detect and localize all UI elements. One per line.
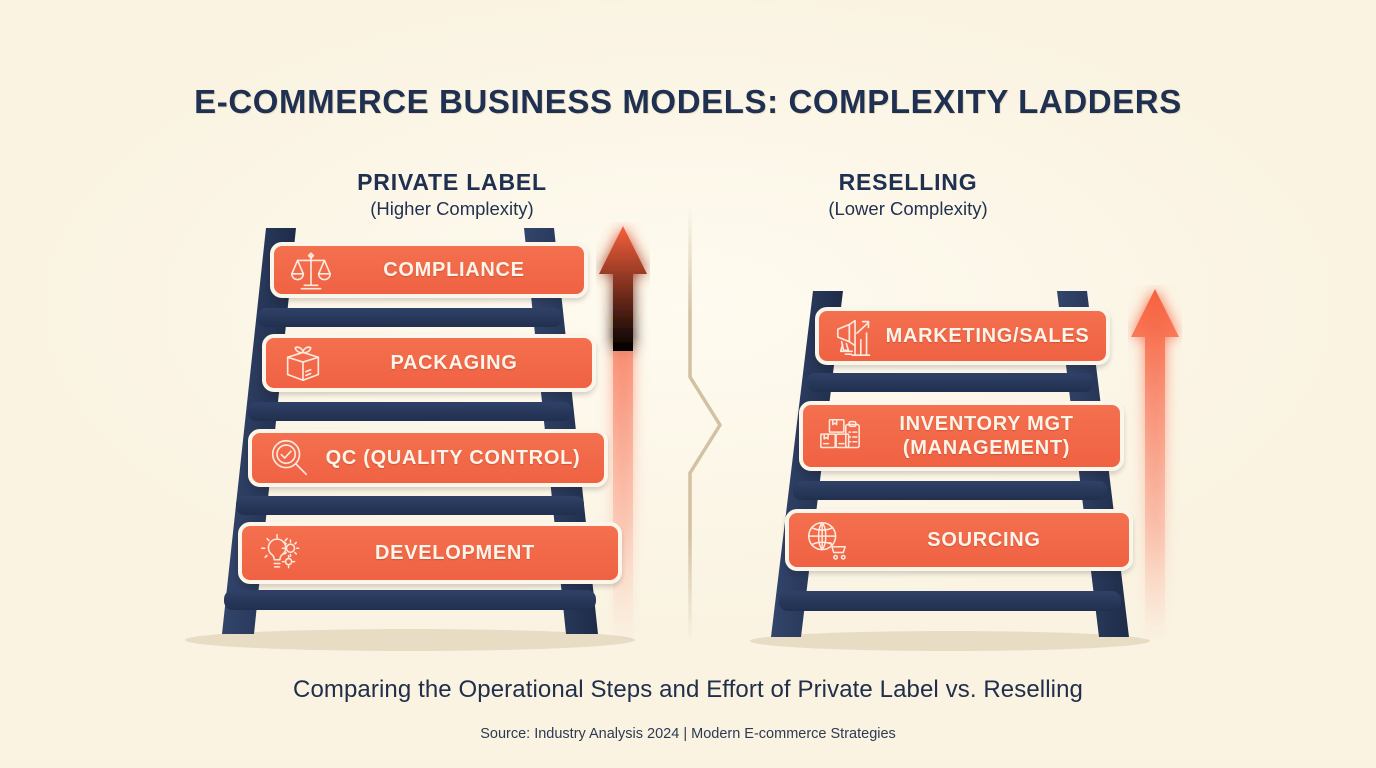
step-marketing-sales[interactable]: MARKETING/SALES: [815, 307, 1110, 365]
column-heading-reselling: RESELLING (Lower Complexity): [758, 168, 1058, 222]
step-label: COMPLIANCE: [340, 258, 574, 282]
column-heading-main: PRIVATE LABEL: [302, 168, 602, 196]
ladder-private-label: COMPLIANCE PACKAGING: [170, 222, 650, 652]
step-label: QC (QUALITY CONTROL): [318, 446, 594, 470]
column-heading-sub: (Higher Complexity): [302, 196, 602, 222]
step-label: MARKETING/SALES: [885, 324, 1096, 348]
source-note: Source: Industry Analysis 2024 | Modern …: [0, 726, 1376, 742]
globe-cart-icon: [803, 517, 849, 563]
gift-box-icon: [280, 340, 326, 386]
lightbulb-gears-icon: [256, 530, 302, 576]
step-development[interactable]: DEVELOPMENT: [238, 522, 622, 584]
step-label: PACKAGING: [332, 351, 582, 375]
infographic-stage: E-COMMERCE BUSINESS MODELS: COMPLEXITY L…: [0, 0, 1376, 768]
step-label: SOURCING: [855, 528, 1119, 552]
ladder-reselling: MARKETING/SALES: [735, 285, 1165, 653]
caption: Comparing the Operational Steps and Effo…: [0, 676, 1376, 704]
column-heading-sub: (Lower Complexity): [758, 196, 1058, 222]
center-divider: [680, 205, 726, 645]
step-packaging[interactable]: PACKAGING: [262, 334, 596, 392]
step-qc-quality-control[interactable]: QC (QUALITY CONTROL): [248, 429, 608, 487]
chevron-right-divider-icon: [680, 205, 726, 645]
magnifier-check-icon: [266, 435, 312, 481]
step-label: DEVELOPMENT: [308, 541, 608, 565]
column-heading-private-label: PRIVATE LABEL (Higher Complexity): [302, 168, 602, 222]
step-label: INVENTORY MGT (MANAGEMENT): [869, 412, 1110, 460]
step-compliance[interactable]: COMPLIANCE: [270, 242, 588, 298]
step-sourcing[interactable]: SOURCING: [785, 509, 1133, 571]
boxes-clipboard-icon: [817, 413, 863, 459]
scales-balance-icon: [288, 247, 334, 293]
page-title: E-COMMERCE BUSINESS MODELS: COMPLEXITY L…: [0, 83, 1376, 121]
megaphone-chart-icon: [833, 313, 879, 359]
step-inventory-mgt[interactable]: INVENTORY MGT (MANAGEMENT): [799, 401, 1124, 471]
column-heading-main: RESELLING: [758, 168, 1058, 196]
